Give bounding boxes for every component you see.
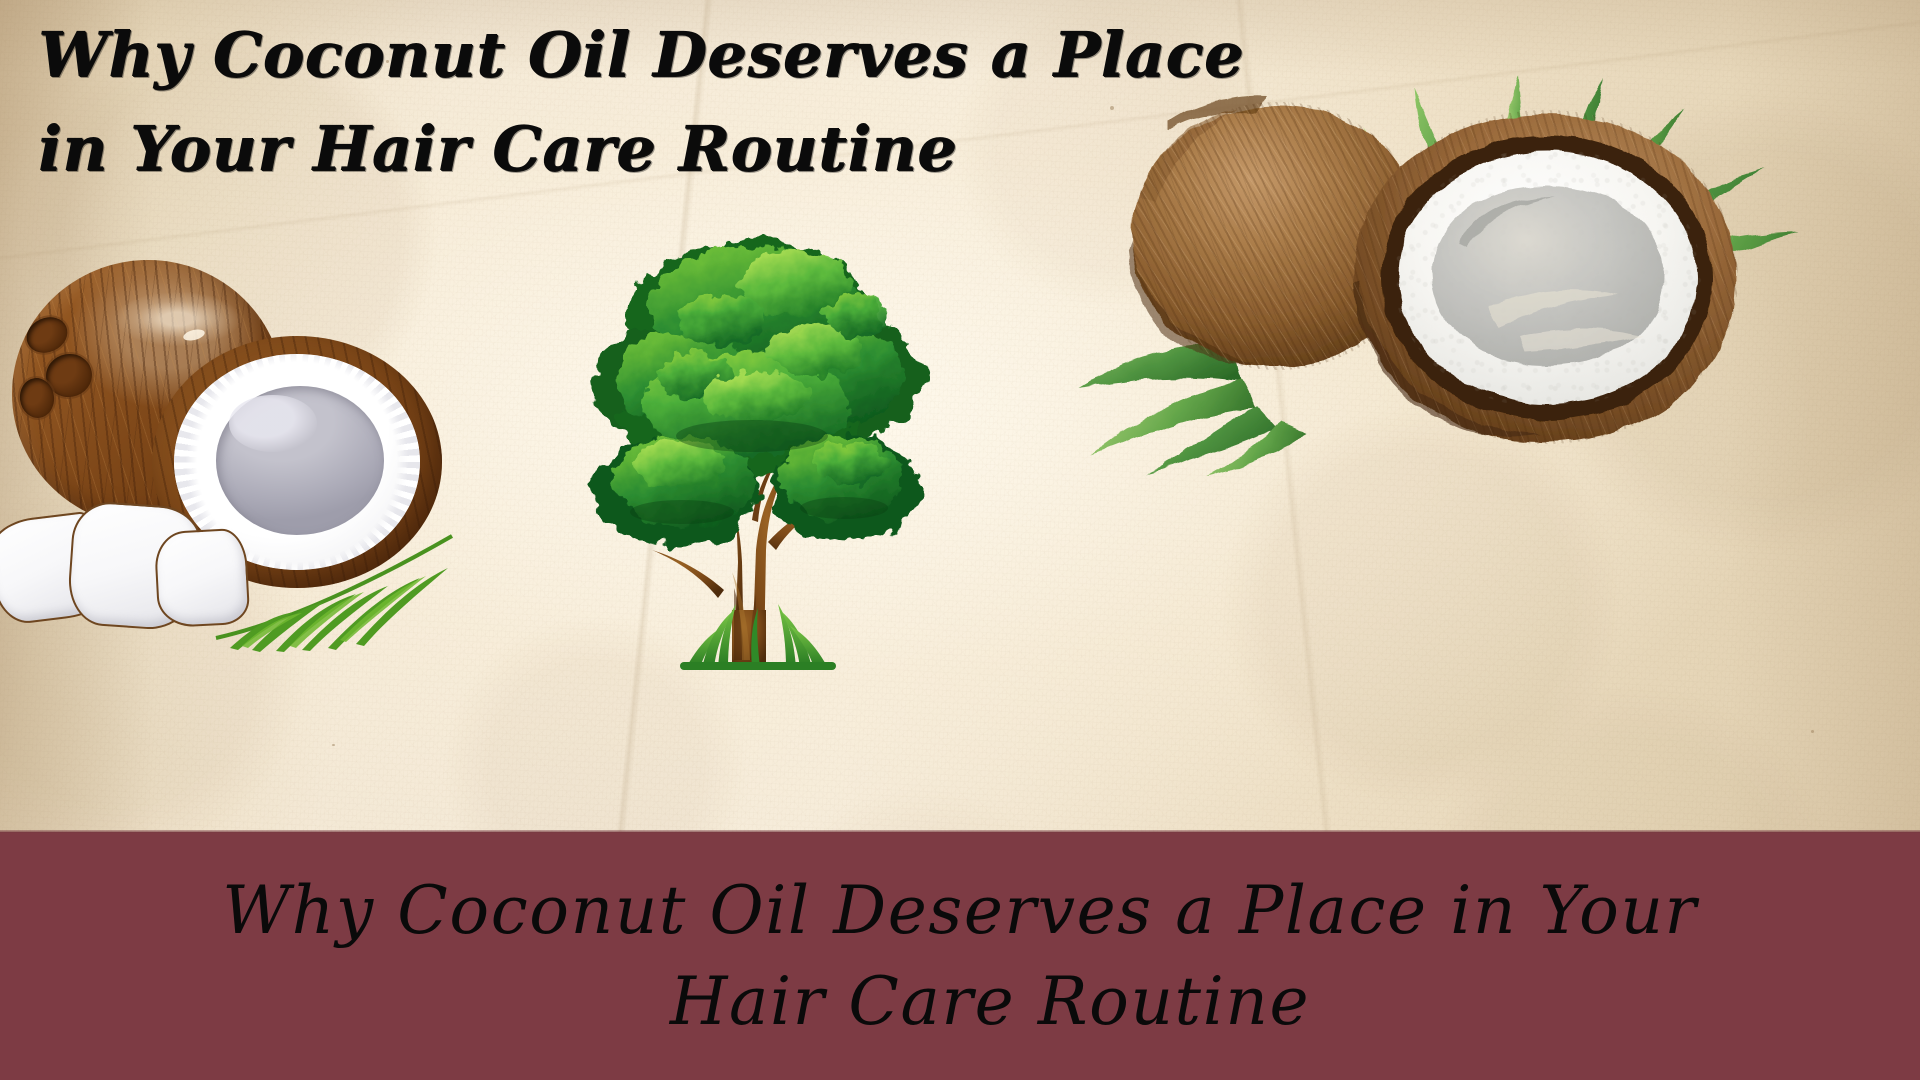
page-title-line-2: in Your Hair Care Routine bbox=[38, 102, 1038, 196]
banner-top-edge bbox=[0, 830, 1920, 833]
coconut-tree-illustration bbox=[556, 190, 956, 690]
footer-title-banner: Why Coconut Oil Deserves a Place in Your… bbox=[0, 832, 1920, 1080]
banner-canvas: Why Coconut Oil Deserves a Place in Your… bbox=[0, 0, 1920, 1080]
footer-title-line-2: Hair Care Routine bbox=[610, 956, 1310, 1047]
paper-speck bbox=[1811, 730, 1814, 733]
coconut-left-illustration bbox=[0, 252, 470, 652]
footer-title-line-1: Why Coconut Oil Deserves a Place in Your bbox=[222, 865, 1697, 956]
page-title: Why Coconut Oil Deserves a Place in Your… bbox=[38, 8, 1038, 196]
coconut-inner-cavity bbox=[1432, 186, 1664, 366]
coconut-core-highlight bbox=[229, 395, 316, 451]
coconut-right-illustration bbox=[1020, 36, 1920, 476]
coconut-meat-chunks bbox=[0, 496, 282, 648]
page-title-line-1: Why Coconut Oil Deserves a Place bbox=[38, 8, 1038, 102]
paper-speck bbox=[332, 744, 335, 746]
coconut-chunk bbox=[154, 528, 251, 629]
